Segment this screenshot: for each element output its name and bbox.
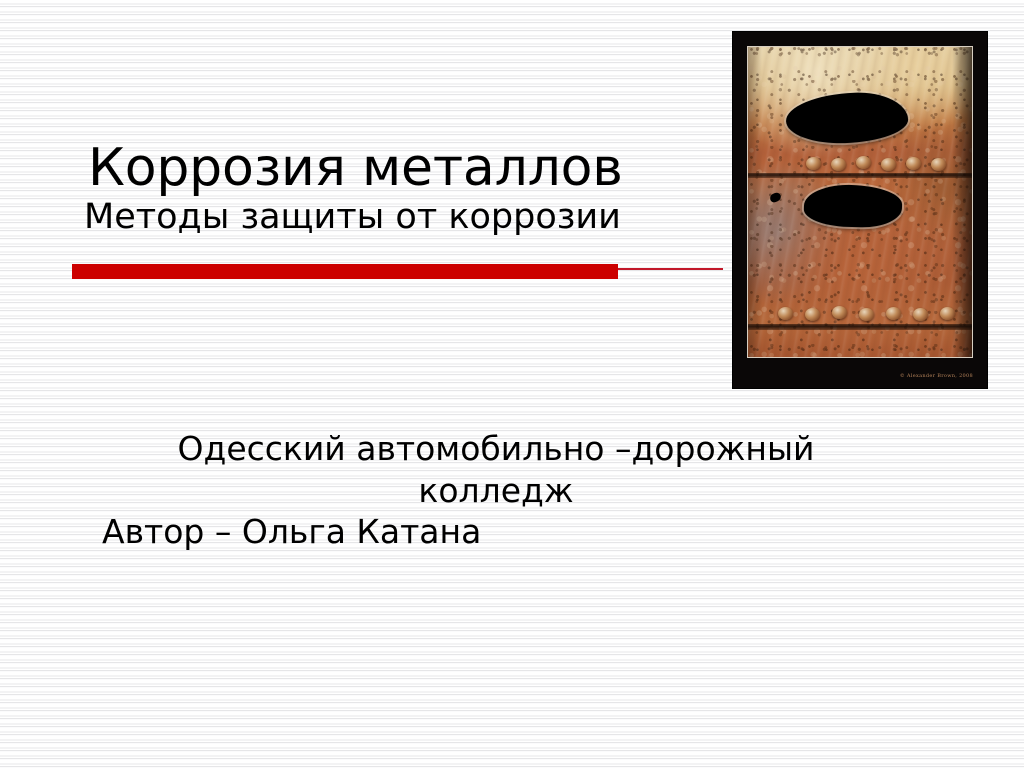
corrosion-hole-lower xyxy=(803,184,902,229)
rivet xyxy=(886,307,901,320)
rivet xyxy=(906,157,921,170)
rule-thick-bar xyxy=(72,264,618,279)
plate-seam-upper xyxy=(748,173,972,178)
rivet-row-lower xyxy=(748,305,972,321)
rivet xyxy=(831,158,846,171)
body-line: Одесский автомобильно –дорожный xyxy=(96,428,896,470)
body-placeholder: Одесский автомобильно –дорожный колледж … xyxy=(96,428,896,553)
body-line: колледж xyxy=(96,470,896,512)
rivet xyxy=(931,158,946,171)
plate-seam-lower xyxy=(748,324,972,330)
title-placeholder: Коррозия металлов Методы защиты от корро… xyxy=(72,142,712,237)
page-subtitle: Методы защиты от коррозии xyxy=(84,198,712,237)
rivet xyxy=(806,157,821,170)
rivet xyxy=(856,156,871,169)
title-underline-rule xyxy=(72,263,723,279)
photo-left-shadow xyxy=(748,47,762,357)
page-title: Коррозия металлов xyxy=(88,142,712,194)
rivet xyxy=(881,158,896,171)
rivet xyxy=(859,308,874,321)
photo-right-shadow xyxy=(952,47,972,357)
presentation-slide: Коррозия металлов Методы защиты от корро… xyxy=(0,0,1024,768)
rivet xyxy=(913,308,928,321)
rusted-metal-plate-photo xyxy=(747,46,973,358)
body-line: Автор – Ольга Катана xyxy=(96,511,896,553)
photo-credit: © Alexander Brown, 2008 xyxy=(900,374,973,379)
rivet xyxy=(832,306,847,319)
rivet xyxy=(805,308,820,321)
rivet-row-upper xyxy=(748,155,972,171)
rivet xyxy=(778,307,793,320)
picture-frame: © Alexander Brown, 2008 xyxy=(733,32,987,388)
